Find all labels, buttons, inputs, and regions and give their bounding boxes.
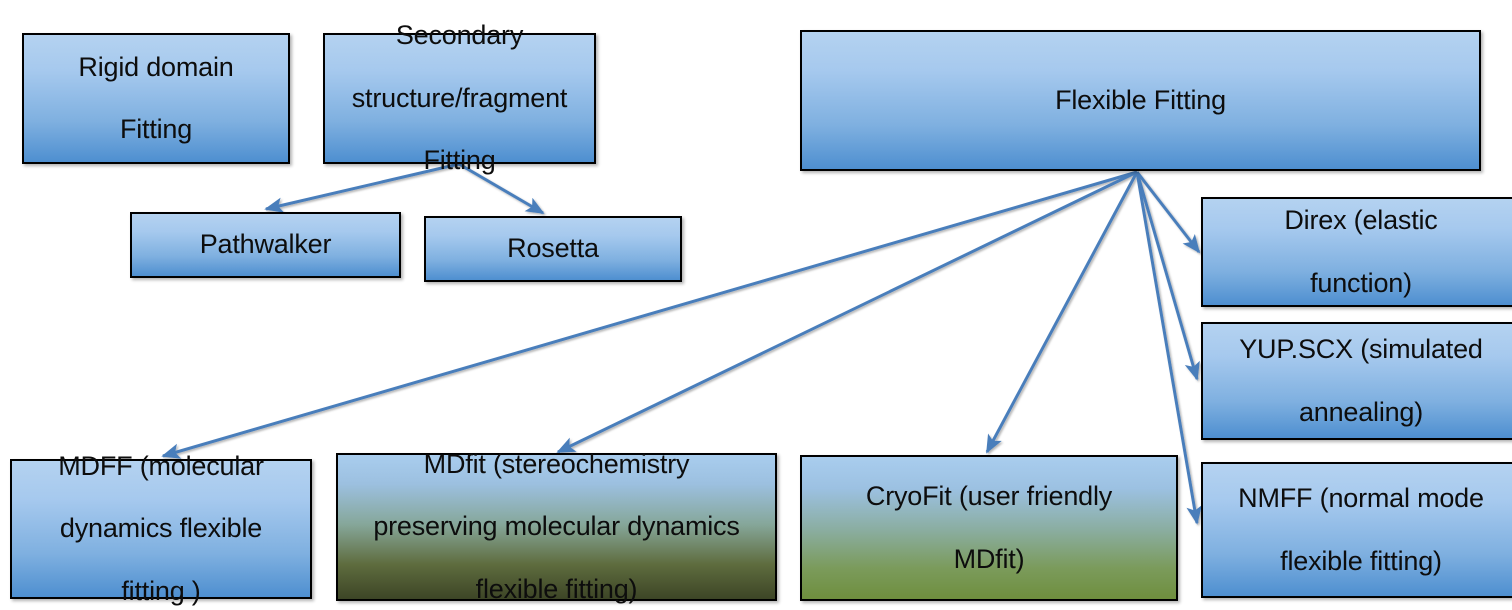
node-label-line: flexible fitting) [373, 574, 739, 605]
node-label-mdff: MDFF (moleculardynamics flexiblefitting … [50, 451, 272, 608]
edge-flexible-to-mdfit [558, 172, 1137, 452]
node-label-line: MDfit (stereochemistry [373, 449, 739, 480]
node-mdff[interactable]: MDFF (moleculardynamics flexiblefitting … [10, 459, 312, 599]
diagram-canvas: Rigid domainFittingSecondarystructure/fr… [0, 0, 1512, 610]
node-label-yup-scx: YUP.SCX (simulatedannealing) [1231, 334, 1491, 428]
node-label-line: MDfit) [866, 544, 1112, 575]
node-secondary-structure-fragment-fitting[interactable]: Secondarystructure/fragmentFitting [323, 33, 596, 164]
node-label-line: Pathwalker [200, 229, 332, 260]
node-label-line: fitting ) [58, 576, 264, 607]
node-pathwalker[interactable]: Pathwalker [130, 212, 401, 278]
node-label-line: structure/fragment [352, 83, 568, 114]
node-label-line: annealing) [1239, 397, 1483, 428]
node-label-rigid-domain-fitting: Rigid domainFitting [70, 52, 241, 146]
edge-flexible-to-direx [1137, 172, 1199, 252]
node-label-pathwalker: Pathwalker [192, 229, 340, 260]
node-label-rosetta: Rosetta [499, 233, 607, 264]
node-label-cryofit: CryoFit (user friendlyMDfit) [858, 481, 1120, 575]
node-label-line: Direx (elastic [1284, 205, 1437, 236]
node-label-line: function) [1284, 268, 1437, 299]
node-direx[interactable]: Direx (elasticfunction) [1201, 197, 1512, 307]
node-cryofit[interactable]: CryoFit (user friendlyMDfit) [800, 455, 1178, 601]
node-label-secondary-structure-fragment-fitting: Secondarystructure/fragmentFitting [344, 20, 576, 177]
node-label-line: Secondary [352, 20, 568, 51]
node-label-flexible-fitting: Flexible Fitting [1047, 85, 1234, 116]
node-label-nmff: NMFF (normal modeflexible fitting) [1230, 483, 1492, 577]
node-label-mdfit: MDfit (stereochemistrypreserving molecul… [365, 449, 747, 606]
node-label-line: Rosetta [507, 233, 599, 264]
edge-flexible-to-yupscx [1137, 172, 1197, 379]
node-label-line: Rigid domain [78, 52, 233, 83]
node-rosetta[interactable]: Rosetta [424, 216, 682, 282]
node-label-line: MDFF (molecular [58, 451, 264, 482]
node-yup-scx[interactable]: YUP.SCX (simulatedannealing) [1201, 322, 1512, 440]
node-label-line: preserving molecular dynamics [373, 511, 739, 542]
node-label-line: Fitting [352, 145, 568, 176]
node-label-direx: Direx (elasticfunction) [1276, 205, 1445, 299]
node-flexible-fitting[interactable]: Flexible Fitting [800, 30, 1481, 171]
node-rigid-domain-fitting[interactable]: Rigid domainFitting [22, 33, 290, 164]
node-label-line: NMFF (normal mode [1238, 483, 1484, 514]
node-nmff[interactable]: NMFF (normal modeflexible fitting) [1201, 462, 1512, 598]
node-label-line: Flexible Fitting [1055, 85, 1226, 116]
node-mdfit[interactable]: MDfit (stereochemistrypreserving molecul… [336, 453, 777, 601]
node-label-line: dynamics flexible [58, 513, 264, 544]
node-label-line: CryoFit (user friendly [866, 481, 1112, 512]
node-label-line: flexible fitting) [1238, 546, 1484, 577]
edge-flexible-to-cryofit [987, 172, 1137, 452]
node-label-line: YUP.SCX (simulated [1239, 334, 1483, 365]
node-label-line: Fitting [78, 114, 233, 145]
